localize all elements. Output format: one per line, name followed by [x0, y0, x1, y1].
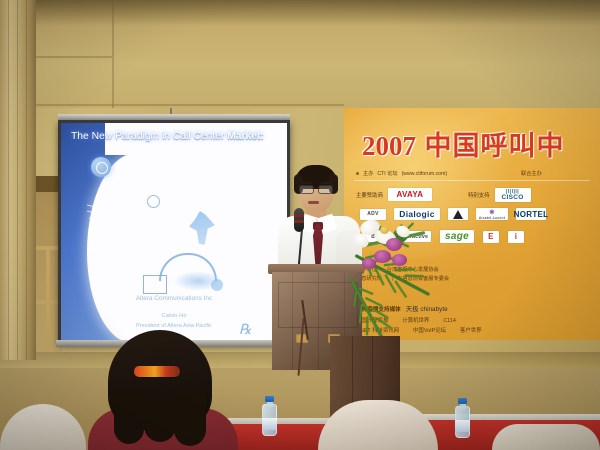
hair-clip	[134, 366, 180, 377]
banner-title: 2007 中国呼叫中	[362, 124, 565, 163]
presentation-slide: http:// The New Paradigm in Call Center …	[61, 123, 287, 341]
special-support-label: 特别支持	[468, 191, 490, 199]
slide-circle-graphic	[147, 195, 160, 208]
slide-company: Altera Communications Inc	[61, 295, 287, 302]
wall-seam	[0, 104, 344, 106]
nortel-logo-text: NORTEL	[514, 210, 549, 219]
water-bottle	[455, 398, 470, 438]
speaker-eyebrow	[301, 182, 312, 184]
projection-screen: http:// The New Paradigm in Call Center …	[58, 120, 290, 344]
globe-badge-icon	[91, 157, 111, 177]
banner-title-cn: 中国呼叫中	[425, 131, 565, 161]
glasses-bridge	[312, 188, 320, 189]
banner-year: 2007	[362, 131, 416, 161]
dialogic-logo: Dialogic	[394, 208, 440, 220]
water-bottle	[262, 396, 277, 436]
slide-url-vertical: http://	[86, 164, 98, 250]
orchid-bloom	[374, 250, 391, 263]
slide-title: The New Paradigm in Call Center Market:	[71, 131, 287, 142]
yellow-bloom	[380, 226, 389, 234]
audience-foreground-far-right	[492, 424, 600, 450]
conference-photo-scene: 2007 中国呼叫中 主办 CTI 论坛 (www.ctiforum.com) …	[0, 0, 600, 450]
slide-presenter-name: Calvin Ho	[61, 313, 287, 319]
cisco-logo: |l|l|l| CISCO	[495, 188, 531, 202]
bottle-label	[455, 420, 470, 432]
orchid-bloom	[392, 254, 407, 266]
sponsor-triangle-logo	[448, 208, 468, 220]
alcatel-lucent-logo: ❊ Alcatel-Lucent	[476, 208, 508, 220]
slide-corner-logo-icon: ℞	[239, 321, 265, 339]
sponsor-row-2: ADV Dialogic ❊ Alcatel-Lucent NORTEL	[360, 208, 546, 220]
dialogic-logo-text: Dialogic	[399, 209, 434, 219]
recess-wood-post	[46, 246, 50, 352]
triangle-icon	[453, 210, 463, 219]
glasses-lens-left	[299, 185, 314, 194]
alu-mark-icon: ❊	[489, 209, 494, 216]
slide-title-bold: Market:	[227, 131, 264, 142]
microphone-band	[294, 214, 304, 217]
sponsor-logo-i: i	[508, 231, 524, 243]
special-support-row: 特别支持 |l|l|l| CISCO	[468, 188, 531, 202]
orchid-bloom	[362, 258, 376, 269]
bottle-cap	[458, 398, 467, 404]
sponsor-logo-small: ADV	[360, 209, 386, 220]
audience-foreground-left	[88, 330, 228, 450]
organizer-label: 主办	[363, 170, 373, 177]
audience-hair-strand	[114, 390, 144, 444]
column-groove	[26, 0, 27, 360]
banner-organizer-row: 主办 CTI 论坛 (www.ctiforum.com)	[356, 170, 600, 177]
organizer-url: (www.ctiforum.com)	[402, 171, 448, 177]
column-groove	[8, 0, 9, 360]
avaya-logo: AVAYA	[388, 188, 432, 201]
banner-coorganizer-row: 联合主办	[518, 170, 542, 177]
main-sponsor-label: 主要赞助商	[356, 191, 383, 199]
coorganizer-label: 联合主办	[521, 170, 542, 177]
ceiling-shadow	[0, 0, 600, 26]
audience-hair-strand	[174, 388, 206, 446]
speaker-mouth	[308, 201, 319, 204]
speaker-glasses	[299, 185, 333, 192]
orchid-bloom	[386, 238, 402, 251]
slide-dot-graphic	[211, 279, 223, 291]
alu-logo-text: Alcatel-Lucent	[479, 216, 505, 220]
nortel-logo: NORTEL	[516, 208, 546, 220]
avaya-logo-text: AVAYA	[397, 190, 424, 199]
bottle-cap	[265, 396, 274, 402]
banner-divider	[354, 180, 590, 181]
floral-arrangement	[330, 224, 460, 354]
organizer-name: CTI 论坛	[377, 170, 397, 177]
column-groove	[17, 0, 18, 360]
cisco-logo-text: CISCO	[502, 194, 524, 201]
sponsor-logo-e: E	[483, 231, 499, 243]
wall-seam	[112, 0, 114, 108]
speaker-eyebrow	[321, 182, 332, 184]
slide-monitor-graphic	[143, 275, 167, 294]
bottle-label	[262, 418, 277, 430]
audience-hair-strand	[144, 396, 176, 442]
wooden-column	[0, 0, 36, 360]
microphone-band	[294, 220, 304, 223]
glasses-lens-right	[318, 185, 333, 194]
slide-title-plain: The New Paradigm in Call Center	[71, 131, 227, 142]
main-sponsor-row: 主要赞助商 AVAYA	[356, 188, 432, 201]
media-name: 客户世界	[460, 326, 482, 336]
